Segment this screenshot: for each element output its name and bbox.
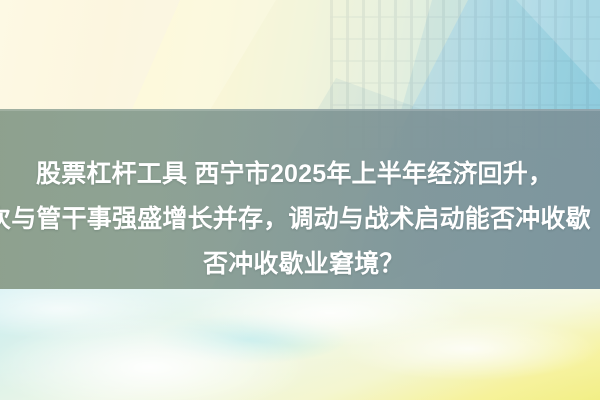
headline-line-2: 次与管干事强盛增长并存，调动与战术启动能否冲收歇 [0,197,591,242]
headline-line-3: 否冲收歇业窘境？ [203,242,405,287]
headline-text: 股票杠杆工具 西宁市2025年上半年经济回升， 次与管干事强盛增长并存，调动与战… [0,109,600,289]
sky-photo [0,289,600,400]
headline-line-1: 股票杠杆工具 西宁市2025年上半年经济回升， [36,152,553,197]
banner-image: 股票杠杆工具 西宁市2025年上半年经济回升， 次与管干事强盛增长并存，调动与战… [0,0,600,400]
